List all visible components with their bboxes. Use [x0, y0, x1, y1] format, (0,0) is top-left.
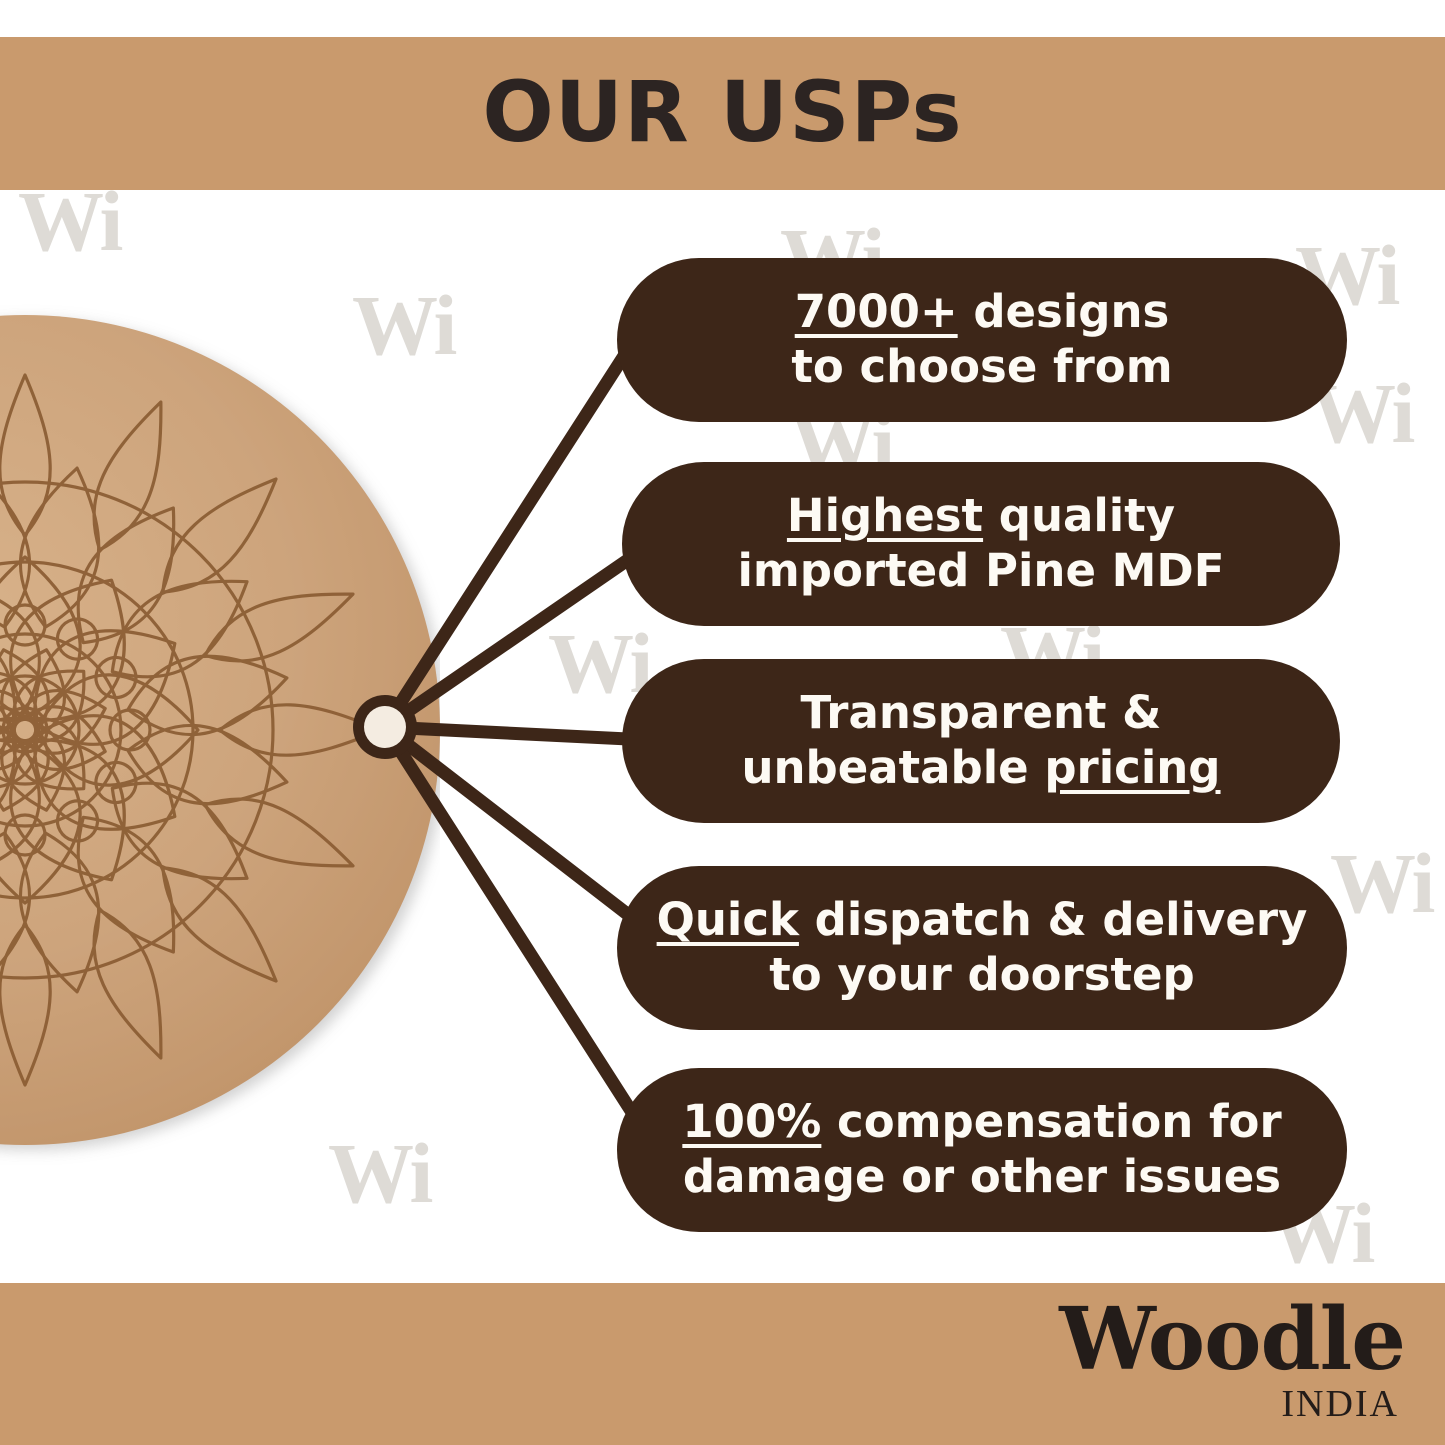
- usp-pill-compensation[interactable]: 100% compensation for damage or other is…: [617, 1068, 1347, 1232]
- usp-pill-quality-line1: Highest quality: [787, 489, 1175, 544]
- footer-band: Woodle INDIA: [0, 1283, 1445, 1445]
- usp-pill-compensation-line2: damage or other issues: [683, 1150, 1281, 1205]
- page-title: OUR USPs: [482, 70, 962, 158]
- usp-pill-designs-line2: to choose from: [791, 340, 1172, 395]
- usp-pill-quality-line2: imported Pine MDF: [737, 544, 1224, 599]
- usp-pill-quality[interactable]: Highest quality imported Pine MDF: [622, 462, 1340, 626]
- usp-pill-pricing[interactable]: Transparent & unbeatable pricing: [622, 659, 1340, 823]
- brand-logo-word: Woodle: [1059, 1297, 1405, 1383]
- usp-pill-dispatch-line2: to your doorstep: [769, 948, 1195, 1003]
- usp-infographic-canvas: WiWiWiWiWiWiWiWiWiWiWi: [0, 0, 1445, 1445]
- brand-logo: Woodle INDIA: [1059, 1297, 1405, 1423]
- usp-pill-designs-line1: 7000+ designs: [795, 285, 1170, 340]
- usp-highlight-dispatch: Quick: [657, 893, 799, 946]
- usp-pill-dispatch-line1: Quick dispatch & delivery: [657, 893, 1308, 948]
- usp-highlight-quality: Highest: [787, 489, 983, 542]
- usp-pill-designs[interactable]: 7000+ designs to choose from: [617, 258, 1347, 422]
- usp-pill-dispatch[interactable]: Quick dispatch & delivery to your doorst…: [617, 866, 1347, 1030]
- usp-highlight-designs: 7000+: [795, 285, 958, 338]
- usp-pill-compensation-line1: 100% compensation for: [682, 1095, 1281, 1150]
- usp-highlight-compensation: 100%: [682, 1095, 821, 1148]
- header-band: OUR USPs: [0, 37, 1445, 190]
- usp-highlight-pricing: pricing: [1044, 741, 1220, 794]
- usp-pill-pricing-line2: unbeatable pricing: [741, 741, 1220, 796]
- usp-pill-list: 7000+ designs to choose from Highest qua…: [0, 0, 1445, 1445]
- usp-pill-pricing-line1: Transparent &: [801, 686, 1162, 741]
- brand-logo-subtitle: INDIA: [1059, 1385, 1399, 1423]
